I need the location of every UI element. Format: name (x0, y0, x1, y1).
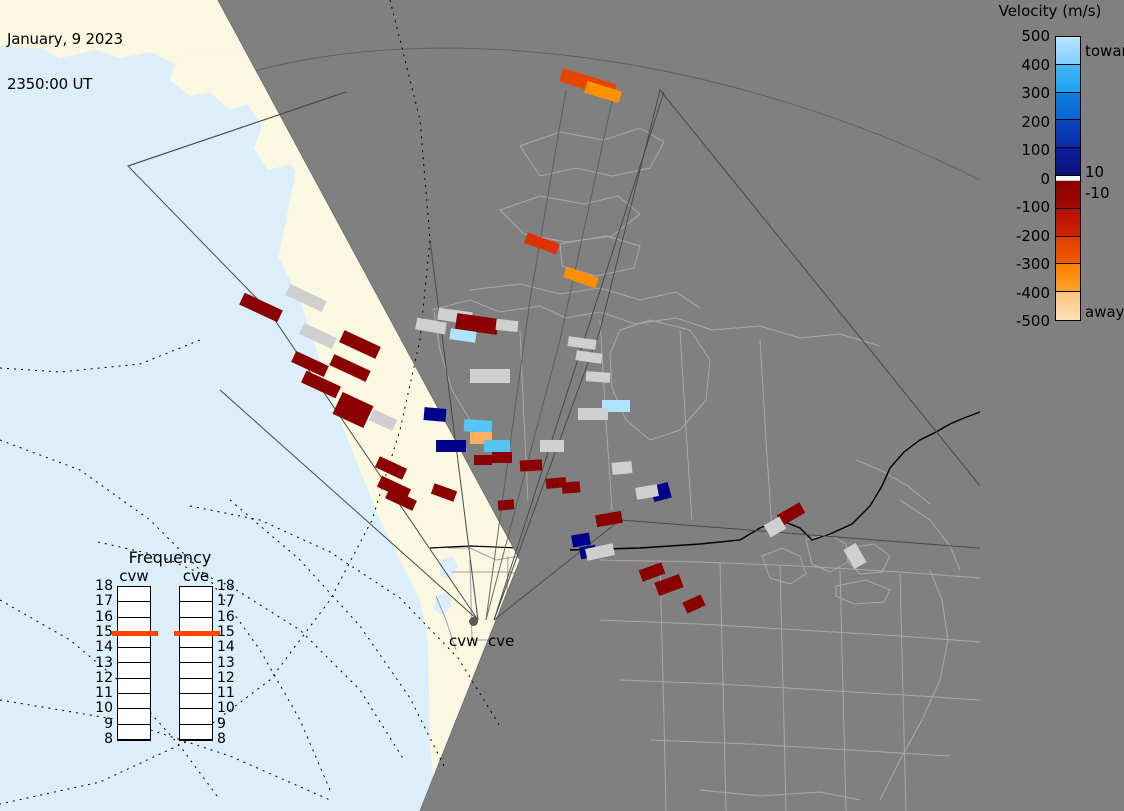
velocity-cell[interactable] (492, 452, 512, 463)
frequency-scale-label-12: 12 (217, 671, 239, 685)
velocity-cell[interactable] (540, 440, 564, 452)
velocity-band-0 (1056, 37, 1080, 65)
frequency-segment (180, 725, 212, 740)
frequency-marker-cve (174, 631, 220, 636)
velocity-pos-threshold-label: 10 (1085, 165, 1104, 180)
frequency-segment (180, 587, 212, 602)
frequency-scale-label-11: 11 (217, 686, 239, 700)
velocity-band-3 (1056, 120, 1080, 148)
timestamp-time: 2350:00 UT (7, 77, 123, 92)
frequency-segment (180, 679, 212, 694)
frequency-segment (180, 602, 212, 617)
velocity-band-2 (1056, 93, 1080, 121)
velocity-band-8 (1056, 237, 1080, 265)
velocity-cell[interactable] (470, 369, 510, 383)
frequency-scale-label-8: 8 (91, 732, 113, 746)
frequency-scale-label-17: 17 (91, 594, 113, 608)
velocity-tick-500: 500 (1021, 29, 1050, 44)
frequency-scale-label-13: 13 (91, 656, 113, 670)
frequency-segment (180, 663, 212, 678)
frequency-marker-cvw (112, 631, 158, 636)
frequency-column-label-cve: cve (179, 568, 213, 584)
frequency-segment (118, 602, 150, 617)
frequency-scale-label-18: 18 (217, 579, 239, 593)
frequency-scale-label-11: 11 (91, 686, 113, 700)
frequency-scale-label-14: 14 (91, 640, 113, 654)
frequency-scale-label-10: 10 (91, 701, 113, 715)
velocity-tick--400: -400 (1016, 286, 1050, 301)
timestamp-date: January, 9 2023 (7, 32, 123, 47)
velocity-cell[interactable] (578, 408, 608, 420)
velocity-tick--300: -300 (1016, 257, 1050, 272)
frequency-column-cve[interactable]: cve (179, 568, 213, 741)
frequency-bar-cve[interactable] (179, 586, 213, 741)
velocity-cell[interactable] (464, 419, 493, 432)
velocity-tick--500: -500 (1016, 314, 1050, 329)
velocity-cell[interactable] (474, 455, 492, 465)
frequency-segment (180, 694, 212, 709)
velocity-toward-label: toward (1085, 44, 1124, 59)
frequency-scale-label-15: 15 (217, 625, 239, 639)
frequency-scale-label-8: 8 (217, 732, 239, 746)
velocity-cell[interactable] (436, 440, 466, 452)
frequency-scale-label-16: 16 (217, 610, 239, 624)
velocity-away-label: away (1085, 305, 1124, 320)
frequency-segment (118, 709, 150, 724)
velocity-band-1 (1056, 65, 1080, 93)
station-label-cvw: cvw (449, 634, 478, 649)
velocity-tick-200: 200 (1021, 115, 1050, 130)
station-label-cve: cve (488, 634, 514, 649)
velocity-band-9 (1056, 264, 1080, 292)
velocity-cell[interactable] (520, 459, 543, 471)
velocity-tick--200: -200 (1016, 229, 1050, 244)
velocity-cell[interactable] (586, 371, 611, 383)
velocity-cell[interactable] (484, 440, 510, 452)
velocity-tick-400: 400 (1021, 58, 1050, 73)
frequency-bar-cvw[interactable] (117, 586, 151, 741)
frequency-column-cvw[interactable]: cvw (117, 568, 151, 741)
frequency-scale-label-14: 14 (217, 640, 239, 654)
frequency-segment (118, 663, 150, 678)
velocity-band-4 (1056, 148, 1080, 176)
velocity-cell[interactable] (498, 499, 515, 510)
frequency-legend-panel: Frequency cvw cve 18171615141312111098 1… (95, 548, 245, 793)
frequency-scale-label-9: 9 (217, 717, 239, 731)
velocity-cell[interactable] (495, 319, 518, 332)
frequency-scale-label-10: 10 (217, 701, 239, 715)
frequency-segment (180, 648, 212, 663)
velocity-cell[interactable] (423, 407, 446, 422)
frequency-scale-label-15: 15 (91, 625, 113, 639)
velocity-colorbar-panel: Velocity (m/s) 5004003002001000-100-200-… (984, 0, 1124, 340)
frequency-segment (118, 587, 150, 602)
velocity-tick--100: -100 (1016, 200, 1050, 215)
frequency-scale-label-17: 17 (217, 594, 239, 608)
frequency-scale-label-18: 18 (91, 579, 113, 593)
frequency-segment (118, 694, 150, 709)
velocity-band-7 (1056, 209, 1080, 237)
timestamp-block: January, 9 2023 2350:00 UT (7, 2, 123, 122)
velocity-cell[interactable] (612, 461, 633, 475)
velocity-cell[interactable] (562, 481, 581, 494)
frequency-column-label-cvw: cvw (117, 568, 151, 584)
velocity-tick-300: 300 (1021, 86, 1050, 101)
radar-site-marker (469, 617, 478, 626)
velocity-neg-threshold-label: -10 (1085, 186, 1110, 201)
frequency-scale-label-16: 16 (91, 610, 113, 624)
frequency-segment (118, 679, 150, 694)
velocity-band-6 (1056, 181, 1080, 209)
frequency-segment (180, 709, 212, 724)
velocity-tick-0: 0 (1040, 172, 1050, 187)
velocity-tick-labels: 5004003002001000-100-200-300-400-500 (984, 0, 1050, 340)
frequency-scale-label-12: 12 (91, 671, 113, 685)
frequency-segment (118, 648, 150, 663)
frequency-segment (118, 725, 150, 740)
frequency-legend-title: Frequency (95, 548, 245, 567)
radar-fan-plot-page: cvw cve January, 9 2023 2350:00 UT Veloc… (0, 0, 1124, 811)
velocity-band-10 (1056, 292, 1080, 320)
frequency-scale-label-9: 9 (91, 717, 113, 731)
velocity-tick-100: 100 (1021, 143, 1050, 158)
frequency-scale-label-13: 13 (217, 656, 239, 670)
velocity-colorbar[interactable] (1055, 36, 1081, 321)
